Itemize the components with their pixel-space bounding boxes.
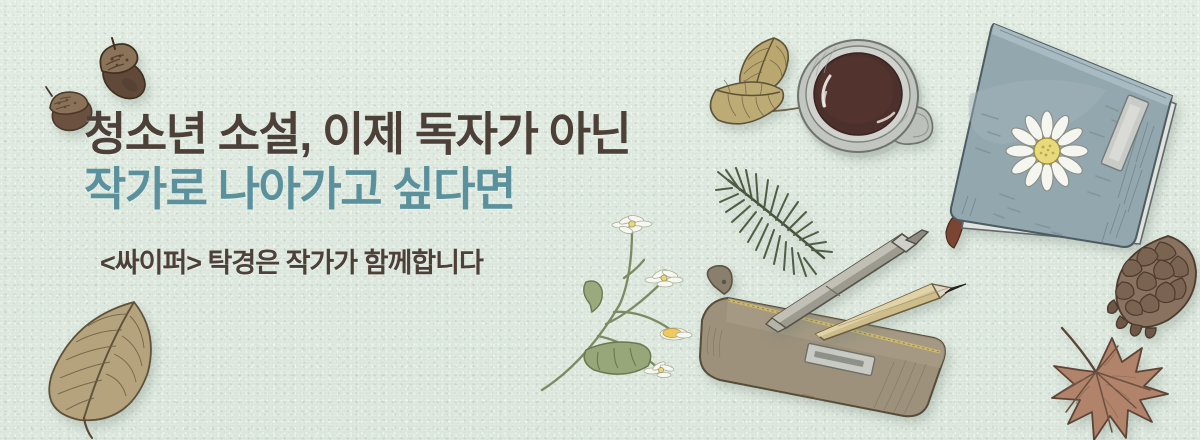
subline: <싸이퍼> 탁경은 작가가 함께합니다 xyxy=(100,241,630,280)
coffee-mug-icon xyxy=(790,30,940,170)
oval-leaf-icon xyxy=(22,292,182,440)
acorn-large-icon xyxy=(82,37,160,107)
headline-line-2: 작가로 나아가고 싶다면 xyxy=(84,161,630,217)
promo-banner: 청소년 소설, 이제 독자가 아닌 작가로 나아가고 싶다면 <싸이퍼> 탁경은… xyxy=(0,0,1200,440)
maple-leaf-icon xyxy=(1036,320,1186,440)
headline-line-1: 청소년 소설, 이제 독자가 아닌 xyxy=(84,108,630,160)
headline-block: 청소년 소설, 이제 독자가 아닌 작가로 나아가고 싶다면 <싸이퍼> 탁경은… xyxy=(84,108,630,280)
